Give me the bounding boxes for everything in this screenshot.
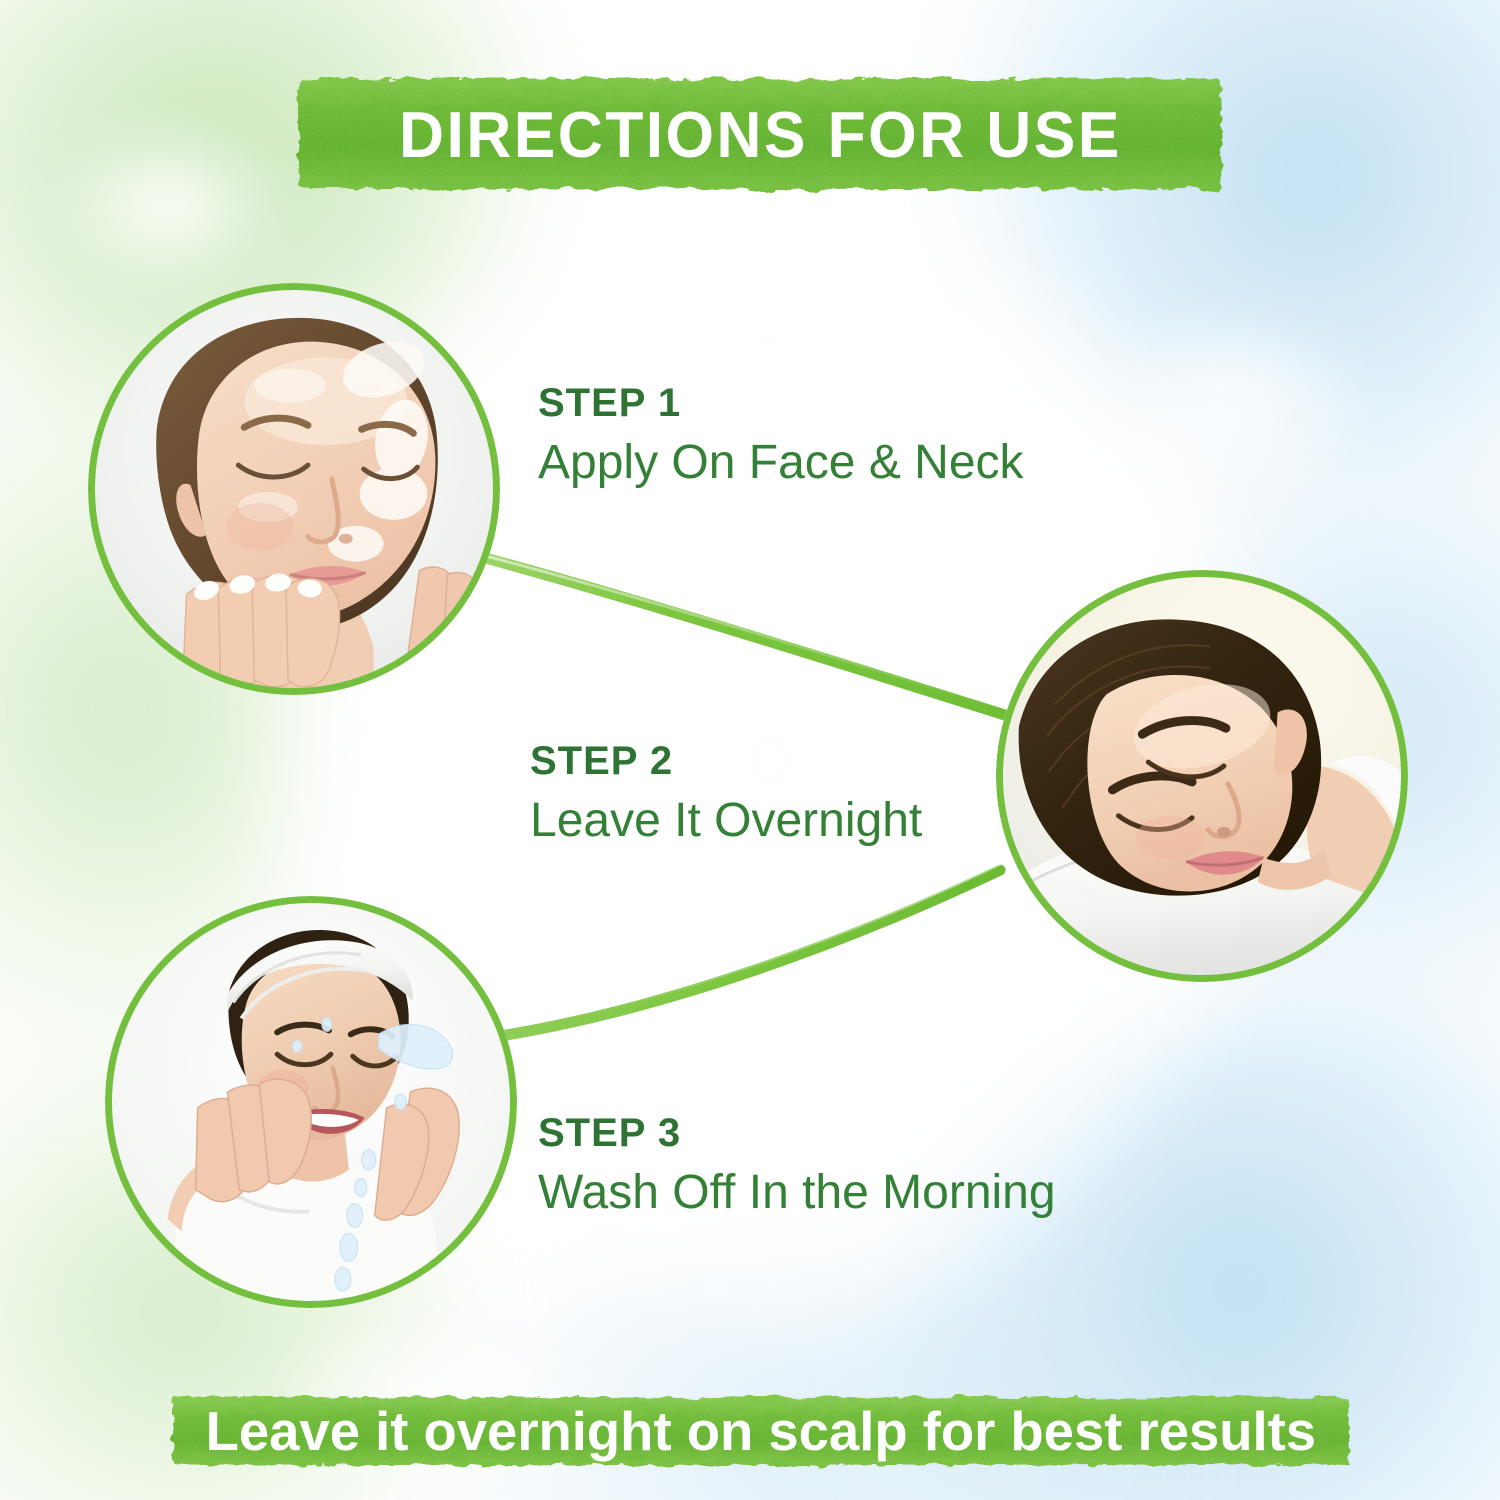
step-2-label: STEP 2 [530,741,922,781]
step-1-description: Apply On Face & Neck [538,437,1024,489]
step-2-text-block: STEP 2 Leave It Overnight [530,741,922,847]
page-title: DIRECTIONS FOR USE [399,102,1122,167]
step-3-photo [105,896,517,1308]
connector-step2-to-step3 [500,870,1000,1036]
step-3-photo-ring [105,896,517,1308]
step-2-photo-ring [996,570,1408,982]
step-3-label: STEP 3 [538,1113,1056,1153]
connector-step1-to-step2 [478,556,1008,716]
step-1-photo [88,283,500,695]
step-1-photo-ring [88,283,500,695]
blue-wash-top-right [970,0,1500,470]
step-3-text-block: STEP 3 Wash Off In the Morning [538,1113,1056,1219]
footer-banner: Leave it overnight on scalp for best res… [168,1393,1354,1469]
step-1-label: STEP 1 [538,383,1024,423]
step-2-description: Leave It Overnight [530,795,922,847]
footer-note: Leave it overnight on scalp for best res… [206,1404,1316,1459]
step-1-text-block: STEP 1 Apply On Face & Neck [538,383,1024,489]
white-cloud-right [1080,300,1380,510]
header-banner: DIRECTIONS FOR USE [293,74,1227,194]
directions-for-use-infographic: DIRECTIONS FOR USE [0,0,1500,1500]
white-cloud-left [40,110,300,300]
step-3-description: Wash Off In the Morning [538,1167,1056,1219]
connector-step1-highlight [486,556,1004,710]
step-2-photo [996,570,1408,982]
connector-step2-highlight [504,864,1000,1030]
